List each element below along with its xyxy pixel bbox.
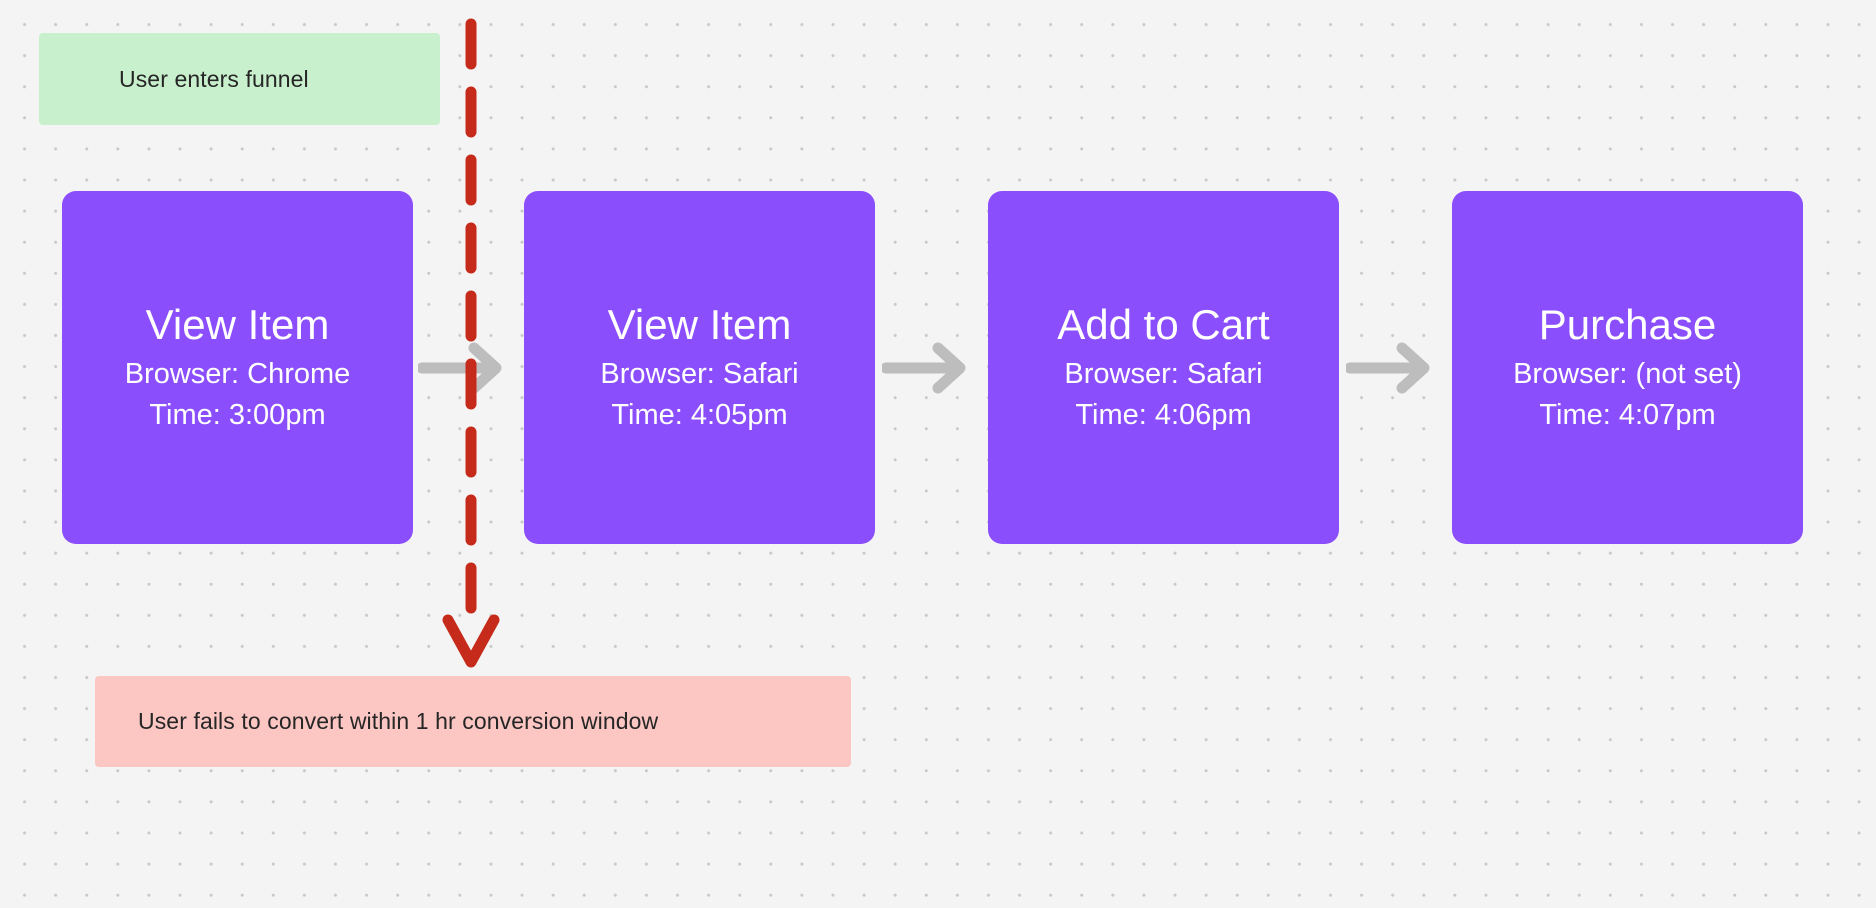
funnel-step-time: Time: 4:06pm [1075,395,1251,436]
funnel-step-browser: Browser: (not set) [1513,354,1742,395]
funnel-step-list: View Item Browser: Chrome Time: 3:00pm V… [0,0,1876,908]
arrow-right-icon [1346,339,1434,397]
funnel-step-card[interactable]: Add to Cart Browser: Safari Time: 4:06pm [988,191,1339,544]
funnel-step-time: Time: 4:07pm [1539,395,1715,436]
dropoff-annotation-box[interactable]: User fails to convert within 1 hr conver… [95,676,851,767]
funnel-step-card[interactable]: Purchase Browser: (not set) Time: 4:07pm [1452,191,1803,544]
funnel-step-card[interactable]: View Item Browser: Safari Time: 4:05pm [524,191,875,544]
funnel-step-browser: Browser: Chrome [125,354,351,395]
funnel-step-title: Purchase [1539,300,1716,350]
dropoff-annotation-label: User fails to convert within 1 hr conver… [138,708,658,735]
funnel-step-time: Time: 3:00pm [149,395,325,436]
funnel-step-title: View Item [608,300,792,350]
funnel-step-card[interactable]: View Item Browser: Chrome Time: 3:00pm [62,191,413,544]
funnel-step-time: Time: 4:05pm [611,395,787,436]
funnel-step-title: View Item [146,300,330,350]
funnel-step-browser: Browser: Safari [1064,354,1262,395]
funnel-step-browser: Browser: Safari [600,354,798,395]
funnel-step-title: Add to Cart [1057,300,1269,350]
diagram-canvas: User enters funnel View Item Browser: Ch… [0,0,1876,908]
arrow-right-icon [882,339,970,397]
dropoff-arrow-icon [440,18,502,673]
